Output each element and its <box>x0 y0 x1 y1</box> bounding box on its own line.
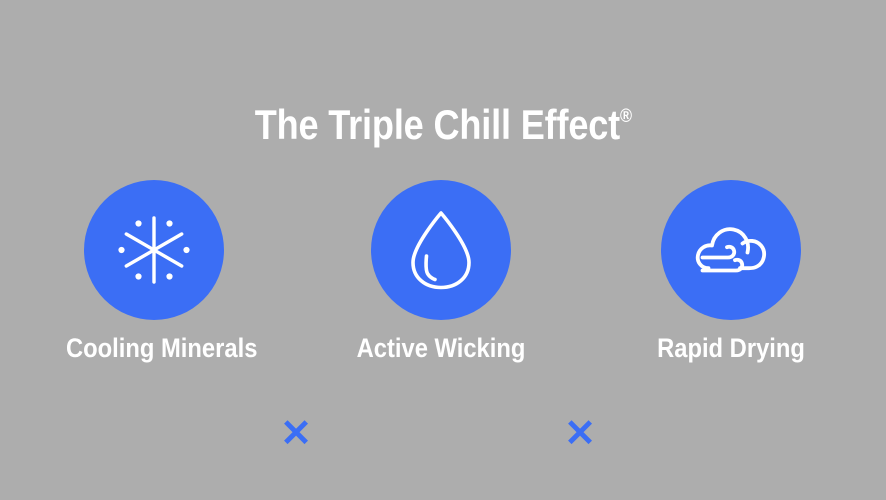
triple-chill-effect-infographic: The Triple Chill Effect® <box>0 0 886 500</box>
pillar-label-rapid-drying: Rapid Drying <box>643 334 819 362</box>
icon-circle-active-wicking <box>371 180 511 320</box>
pillar-label-active-wicking: Active Wicking <box>353 334 529 362</box>
cloud-wind-icon <box>684 214 778 286</box>
multiply-symbol-2: ✕ <box>558 412 602 456</box>
water-drop-icon <box>403 207 479 293</box>
page-title-main: The Triple Chill Effect <box>254 101 619 148</box>
page-title-text: The Triple Chill Effect® <box>254 104 631 146</box>
registered-trademark-icon: ® <box>620 106 632 127</box>
snowflake-icon <box>113 209 195 291</box>
icon-circle-rapid-drying <box>661 180 801 320</box>
pillar-cooling-minerals: Cooling Minerals <box>54 180 254 380</box>
pillar-active-wicking: Active Wicking <box>341 180 541 380</box>
icon-circle-cooling-minerals <box>84 180 224 320</box>
pillars-row: Cooling Minerals Active Wicking <box>0 180 886 380</box>
page-title: The Triple Chill Effect® <box>0 104 886 146</box>
pillar-rapid-drying: Rapid Drying <box>631 180 831 380</box>
multiply-symbol-1: ✕ <box>274 412 318 456</box>
pillar-label-cooling-minerals: Cooling Minerals <box>66 334 242 362</box>
